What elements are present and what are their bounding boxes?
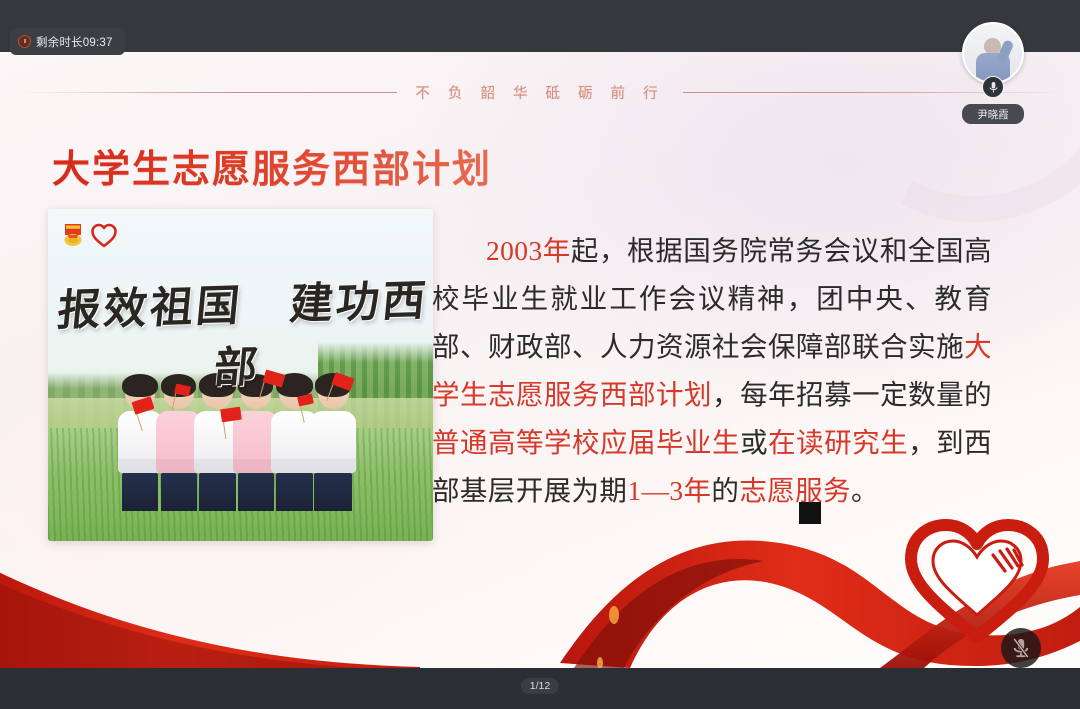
body-segment: ，每年招募一定数量的 <box>712 379 992 410</box>
body-segment: 。 <box>851 475 879 506</box>
presentation-slide[interactable]: 不 负 韶 华 砥 砺 前 行 大学生志愿服务西部计划 <box>0 52 1080 668</box>
header-rule-left <box>17 92 397 93</box>
slide-header-band: 不 负 韶 华 砥 砺 前 行 <box>0 80 1080 104</box>
body-emphasis-duration: 1—3年 <box>627 475 711 506</box>
body-segment: 或 <box>740 427 768 458</box>
meeting-app-root: 不 负 韶 华 砥 砺 前 行 大学生志愿服务西部计划 <box>0 0 1080 709</box>
body-segment: 的 <box>711 475 739 506</box>
remaining-time-label: 剩余时长09:37 <box>36 34 113 50</box>
presenter-mic-icon[interactable] <box>982 76 1004 98</box>
header-rule-right <box>683 92 1063 93</box>
mic-mute-button[interactable] <box>1001 628 1041 668</box>
clock-icon <box>18 35 31 48</box>
slide-photo: 报效祖国 建功西部 <box>48 209 433 541</box>
mic-muted-icon <box>1011 637 1031 659</box>
header-motto-text: 不 负 韶 华 砥 砺 前 行 <box>397 82 682 103</box>
body-emphasis-graduates: 普通高等学校应届毕业生 <box>432 427 740 458</box>
photo-caption: 报效祖国 建功西部 <box>48 266 433 401</box>
heart-hand-logo-icon <box>889 519 1064 644</box>
presenter-video-tile[interactable] <box>962 22 1024 84</box>
body-emphasis-postgrad: 在读研究生 <box>768 427 908 458</box>
page-indicator: 1/12 <box>521 678 559 694</box>
youth-league-emblem-icon <box>62 223 84 249</box>
heart-outline-icon <box>90 221 118 249</box>
body-emphasis-service: 志愿服务 <box>739 475 851 506</box>
remaining-time-badge: 剩余时长09:37 <box>10 28 125 55</box>
slide-body-text: 2003年起，根据国务院常务会议和全国高校毕业生就业工作会议精神，团中央、教育部… <box>432 227 992 515</box>
body-emphasis-year: 2003年 <box>486 235 571 266</box>
photo-caption-right: 建功西部 <box>212 278 431 393</box>
slide-title: 大学生志愿服务西部计划 <box>52 138 492 193</box>
top-chrome-bar <box>0 0 1080 52</box>
photo-person-body <box>310 411 357 473</box>
photo-caption-left: 报效祖国 <box>55 283 244 335</box>
presenter-name-label: 尹晓霞 <box>962 104 1024 124</box>
